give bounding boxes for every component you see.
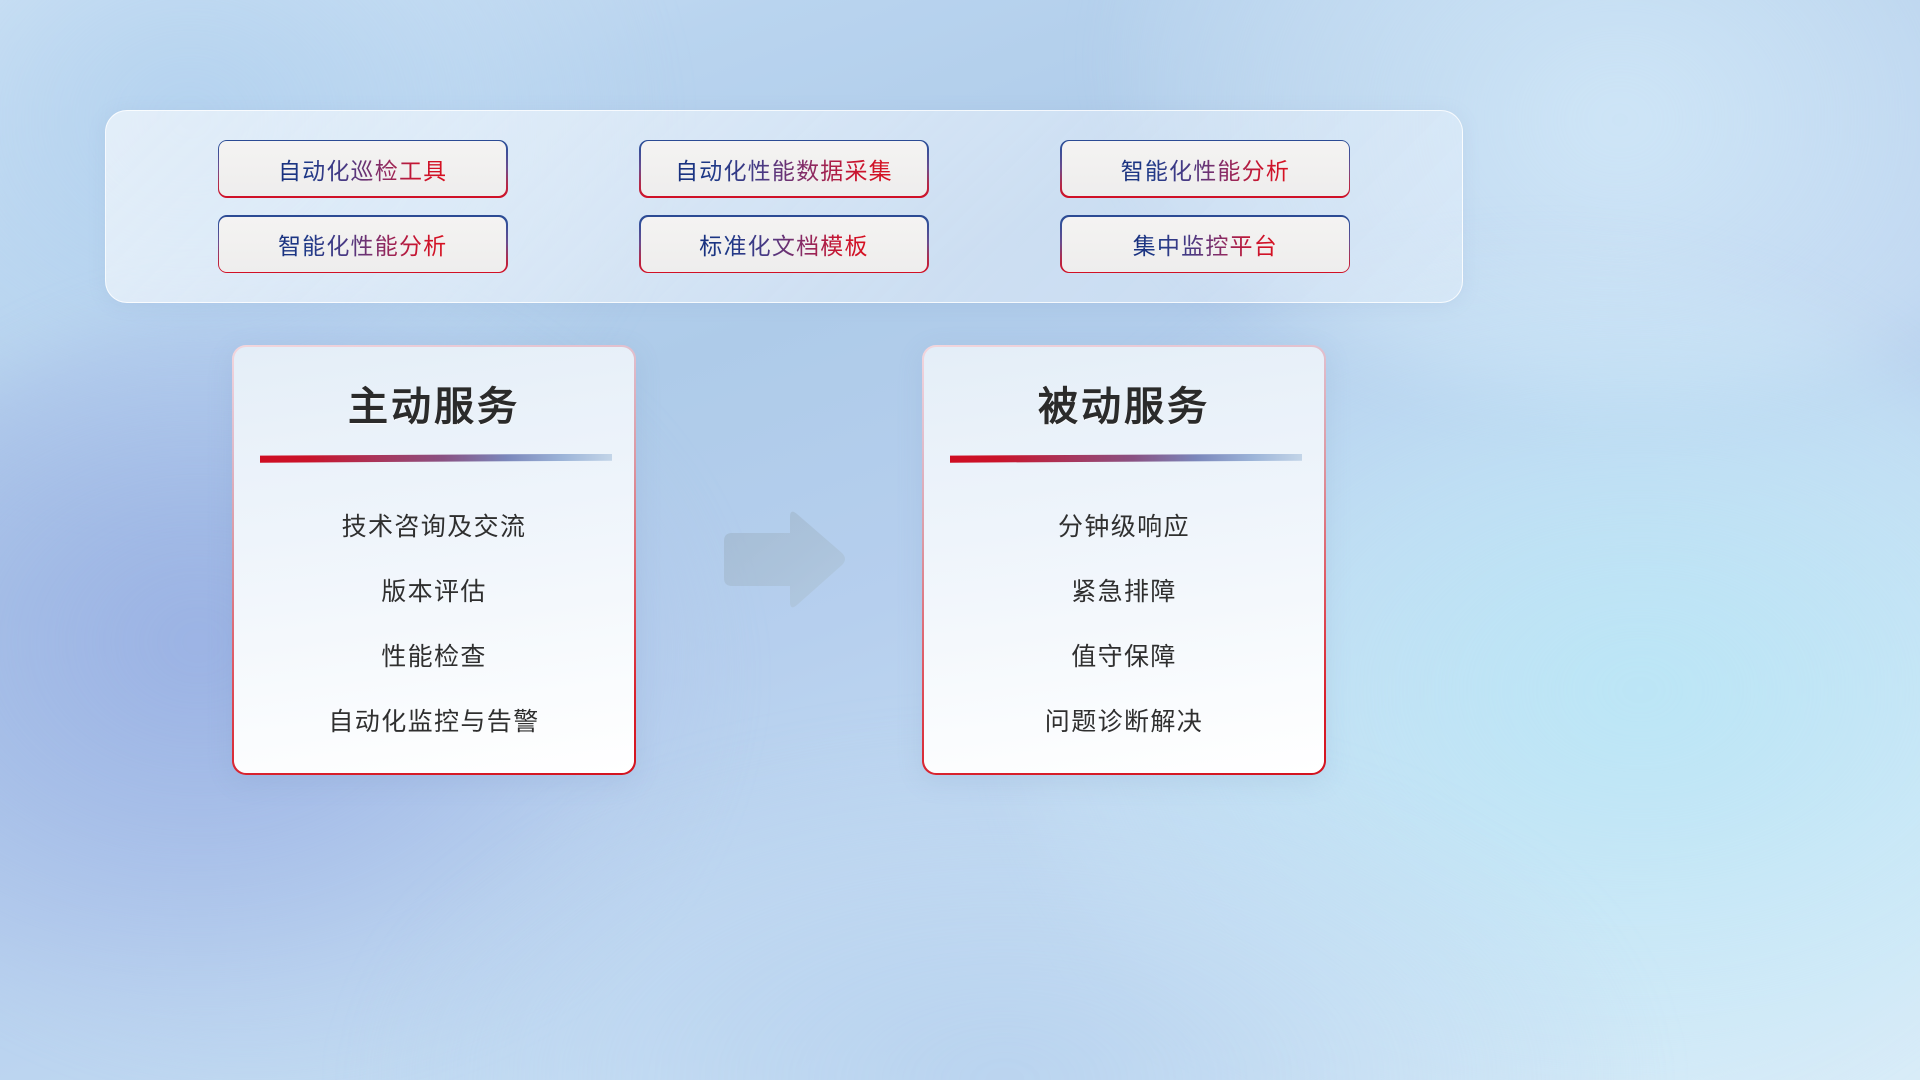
capability-tools-grid: 自动化巡检工具 自动化性能数据采集 智能化性能分析 智能化性能分析 标准化文档模… xyxy=(106,111,1462,302)
tool-chip-label: 智能化性能分析 xyxy=(1121,152,1290,186)
tool-chip-label: 智能化性能分析 xyxy=(278,227,447,261)
card-title: 主动服务 xyxy=(234,374,635,432)
service-list-item: 健康巡检 xyxy=(234,753,635,774)
service-list-item: 紧急排障 xyxy=(924,558,1325,623)
tool-chip-label: 自动化巡检工具 xyxy=(278,152,447,186)
tool-chip-surface: 自动化巡检工具 xyxy=(219,141,506,196)
tool-chip-label: 自动化性能数据采集 xyxy=(675,152,893,186)
service-list-item: 技术咨询及交流 xyxy=(234,493,635,558)
tool-chip-surface: 智能化性能分析 xyxy=(219,217,506,272)
tool-chip-surface: 标准化文档模板 xyxy=(641,217,928,272)
card-title-divider xyxy=(950,454,1303,463)
card-title: 被动服务 xyxy=(924,374,1325,432)
tool-chip-3[interactable]: 智能化性能分析 xyxy=(218,215,508,273)
service-list-item: 分钟级响应 xyxy=(924,493,1325,558)
service-list-item: 问题诊断解决 xyxy=(924,688,1325,753)
tool-chip-5[interactable]: 集中监控平台 xyxy=(1060,215,1350,273)
tool-chip-0[interactable]: 自动化巡检工具 xyxy=(218,140,508,198)
tool-chip-surface: 集中监控平台 xyxy=(1062,217,1349,272)
tool-chip-label: 标准化文档模板 xyxy=(699,227,868,261)
tool-chip-1[interactable]: 自动化性能数据采集 xyxy=(639,140,929,198)
tool-chip-4[interactable]: 标准化文档模板 xyxy=(639,215,929,273)
arrow-right-icon xyxy=(718,505,848,615)
service-card-surface: 被动服务 分钟级响应 紧急排障 值守保障 问题诊断解决 SLA式服务 xyxy=(924,347,1325,774)
service-item-list: 技术咨询及交流 版本评估 性能检查 自动化监控与告警 健康巡检 xyxy=(234,493,635,774)
tool-chip-surface: 自动化性能数据采集 xyxy=(641,141,928,196)
service-list-item: 版本评估 xyxy=(234,558,635,623)
service-list-item: SLA式服务 xyxy=(924,753,1325,774)
tool-chip-label: 集中监控平台 xyxy=(1133,227,1278,261)
tool-chip-surface: 智能化性能分析 xyxy=(1062,141,1349,196)
capability-tools-panel: 自动化巡检工具 自动化性能数据采集 智能化性能分析 智能化性能分析 标准化文档模… xyxy=(105,110,1463,303)
card-title-divider xyxy=(260,454,613,463)
service-card-surface: 主动服务 技术咨询及交流 版本评估 性能检查 自动化监控与告警 健康巡检 xyxy=(234,347,635,774)
service-list-item: 自动化监控与告警 xyxy=(234,688,635,753)
service-card-reactive: 被动服务 分钟级响应 紧急排障 值守保障 问题诊断解决 SLA式服务 xyxy=(922,345,1326,775)
service-list-item: 性能检查 xyxy=(234,623,635,688)
service-list-item: 值守保障 xyxy=(924,623,1325,688)
service-card-proactive: 主动服务 技术咨询及交流 版本评估 性能检查 自动化监控与告警 健康巡检 xyxy=(232,345,636,775)
tool-chip-2[interactable]: 智能化性能分析 xyxy=(1060,140,1350,198)
service-item-list: 分钟级响应 紧急排障 值守保障 问题诊断解决 SLA式服务 xyxy=(924,493,1325,774)
